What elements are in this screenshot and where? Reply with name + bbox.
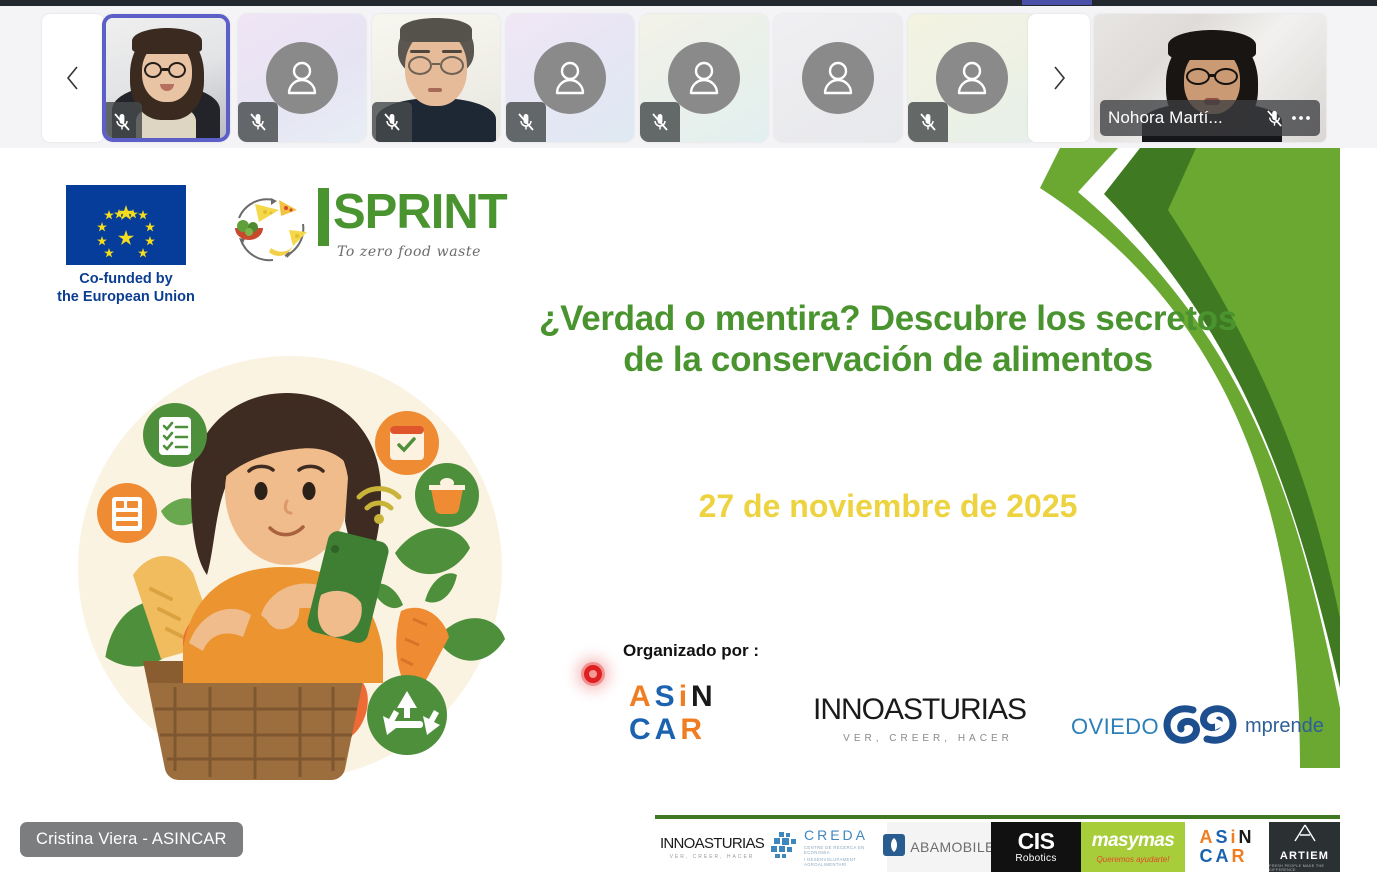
emprende-text: mprende: [1245, 715, 1324, 738]
sprint-divider-bar: [318, 188, 329, 246]
participant-mic-muted-2: [238, 102, 278, 142]
sponsor-logo-creda: CREDA CENTRE DE RECERCA EN ECONOMIA I DE…: [769, 822, 887, 872]
organizer-logo-oviedo-emprende: OVIEDO mprende: [1071, 701, 1311, 752]
sponsor-logo-cis-robotics: CIS Robotics: [991, 822, 1081, 872]
sponsor-logo-innoasturias: INNOASTURIAS VER, CREER, HACER: [655, 822, 769, 872]
masymas-tagline: Queremos ayudarte!: [1097, 855, 1170, 864]
participant-tile-2[interactable]: [238, 14, 366, 142]
sprint-tagline: To zero food waste: [337, 244, 481, 260]
oviedo-emprende-mark-icon: [1163, 701, 1241, 752]
slide-date: 27 de noviembre de 2025: [528, 488, 1248, 525]
participant-tile-5[interactable]: [640, 14, 768, 142]
participant-tile-3[interactable]: [372, 14, 500, 142]
more-options-icon[interactable]: [1290, 114, 1312, 122]
sponsor-logo-asincar: ASiN CAR: [1185, 822, 1269, 872]
participant-mic-muted-7: [908, 102, 948, 142]
filmstrip-prev-button[interactable]: [42, 14, 104, 142]
participant-mic-muted-4: [506, 102, 546, 142]
creda-tagline-2: I DESENVOLUPAMENT AGROALIMENTARI: [804, 857, 887, 867]
cis-wordmark: CIS: [1018, 830, 1055, 853]
sponsor-asincar-line1: ASiN: [1199, 828, 1254, 847]
participant-tile-6[interactable]: [774, 14, 902, 142]
shared-presentation-slide[interactable]: Co-funded by the European Union: [40, 148, 1340, 872]
sponsor-divider-rule: [655, 815, 1340, 819]
eu-funding-caption: Co-funded by the European Union: [50, 270, 202, 306]
sponsor-innoasturias-wordmark: INNOASTURIAS: [660, 835, 764, 852]
participant-tile-1[interactable]: [102, 14, 230, 142]
participant-tile-7[interactable]: [908, 14, 1036, 142]
mic-off-icon: [516, 111, 536, 133]
laser-pointer-dot: [584, 665, 602, 683]
app-window: Nohora Martí...: [0, 0, 1377, 872]
asincar-line2: CAR: [629, 716, 717, 745]
presenter-name-chip: Cristina Viera - ASINCAR: [20, 822, 243, 857]
eu-caption-line1: Co-funded by: [50, 270, 202, 288]
mic-off-icon: [112, 111, 132, 133]
abamobile-wordmark: ABAMOBILE: [910, 839, 995, 855]
organizer-logos: ASiN CAR INNOASTURIAS VER, CREER, HACER …: [623, 673, 1303, 753]
participant-tile-4[interactable]: [506, 14, 634, 142]
slide-illustration: [65, 343, 515, 793]
mic-off-icon: [650, 111, 670, 133]
masymas-wordmark: masymas: [1092, 830, 1174, 852]
artiem-wordmark: ARTIEM: [1280, 850, 1329, 862]
artiem-mark-icon: [1293, 823, 1317, 848]
organizer-logo-innoasturias: INNOASTURIAS VER, CREER, HACER: [813, 693, 1043, 744]
sponsor-innoasturias-tagline: VER, CREER, HACER: [670, 854, 755, 860]
cis-tagline: Robotics: [1015, 853, 1056, 864]
innoasturias-tagline: VER, CREER, HACER: [813, 733, 1043, 744]
creda-mark-icon: [769, 830, 801, 865]
abamobile-mark-icon: [883, 834, 905, 861]
eu-caption-line2: the European Union: [50, 288, 202, 306]
mic-off-icon[interactable]: [1265, 108, 1284, 129]
slide-title: ¿Verdad o mentira? Descubre los secretos…: [528, 298, 1248, 381]
sponsor-logo-strip: INNOASTURIAS VER, CREER, HACER C: [655, 822, 1340, 872]
eu-flag-icon: [66, 185, 186, 265]
mic-off-icon: [248, 111, 268, 133]
filmstrip-next-button[interactable]: [1028, 14, 1090, 142]
participant-filmstrip: Nohora Martí...: [0, 6, 1377, 148]
sponsor-logo-artiem: ARTIEM FRESH PEOPLE MAKE THE DIFFERENCE: [1269, 822, 1340, 872]
innoasturias-wordmark: INNOASTURIAS: [813, 693, 1043, 727]
mic-off-icon: [382, 111, 402, 133]
organizers-label: Organizado por :: [623, 641, 759, 661]
oviedo-text: OVIEDO: [1071, 714, 1159, 740]
creda-wordmark: CREDA: [804, 827, 887, 843]
chevron-left-icon: [65, 64, 81, 92]
top-bar-accent-segment: [1022, 0, 1092, 5]
asincar-line1: ASiN: [629, 683, 717, 712]
participant-mic-muted-5: [640, 102, 680, 142]
participant-mic-muted-1: [102, 102, 142, 142]
organizer-logo-asincar: ASiN CAR: [629, 683, 717, 744]
person-avatar-icon-6: [802, 42, 874, 114]
sprint-food-cycle-icon: [225, 188, 317, 272]
artiem-tagline: FRESH PEOPLE MAKE THE DIFFERENCE: [1269, 864, 1340, 872]
creda-tagline-1: CENTRE DE RECERCA EN ECONOMIA: [804, 845, 887, 855]
sprint-logo: SPRINT To zero food waste: [225, 186, 545, 276]
chevron-right-icon: [1051, 64, 1067, 92]
sponsor-logo-abamobile: ABAMOBILE: [887, 822, 991, 872]
pinned-participant-name: Nohora Martí...: [1108, 108, 1259, 128]
mic-off-icon: [918, 111, 938, 133]
participant-tile-pinned[interactable]: Nohora Martí...: [1094, 14, 1326, 142]
sprint-wordmark: SPRINT: [333, 188, 507, 237]
participant-mic-muted-3: [372, 102, 412, 142]
sponsor-logo-masymas: masymas Queremos ayudarte!: [1081, 822, 1185, 872]
pinned-participant-namebar: Nohora Martí...: [1100, 100, 1320, 136]
sponsor-asincar-line2: CAR: [1199, 847, 1254, 866]
